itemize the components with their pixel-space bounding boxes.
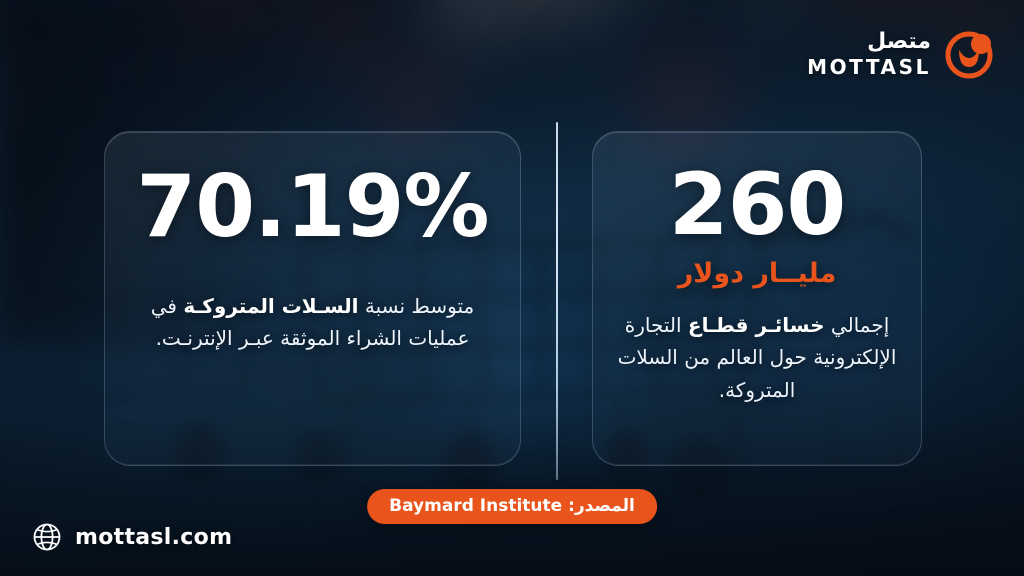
- stat-number: 70.19%: [136, 164, 488, 250]
- source-badge: المصدر: Baymard Institute: [367, 489, 657, 524]
- stat-description: متوسط نسبة السـلات المتروكـة في عمليات ا…: [113, 290, 513, 355]
- stat-card-ecommerce-losses: 260 مليــار دولار إجمالي خسائـر قطـاع ال…: [592, 131, 922, 466]
- stat-unit: مليــار دولار: [678, 260, 837, 287]
- stat-number: 260: [669, 162, 846, 248]
- stat-description-highlight: السـلات المتروكـة: [183, 294, 358, 318]
- footer-url-label: mottasl.com: [75, 525, 232, 550]
- globe-icon: [32, 522, 62, 552]
- footer-website[interactable]: mottasl.com: [32, 522, 232, 552]
- stat-description-lead: متوسط نسبة: [359, 294, 475, 318]
- card-divider: [556, 122, 558, 480]
- stat-description-highlight: خسائـر قطـاع: [688, 313, 825, 337]
- infographic-canvas: متصل MOTTASL 70.19% متوسط نسبة السـلات ا…: [0, 0, 1024, 576]
- stat-description-lead: إجمالي: [825, 313, 890, 337]
- stat-card-abandoned-cart-rate: 70.19% متوسط نسبة السـلات المتروكـة في ع…: [104, 131, 521, 466]
- stat-description: إجمالي خسائـر قطـاع التجارة الإلكترونية …: [598, 309, 916, 406]
